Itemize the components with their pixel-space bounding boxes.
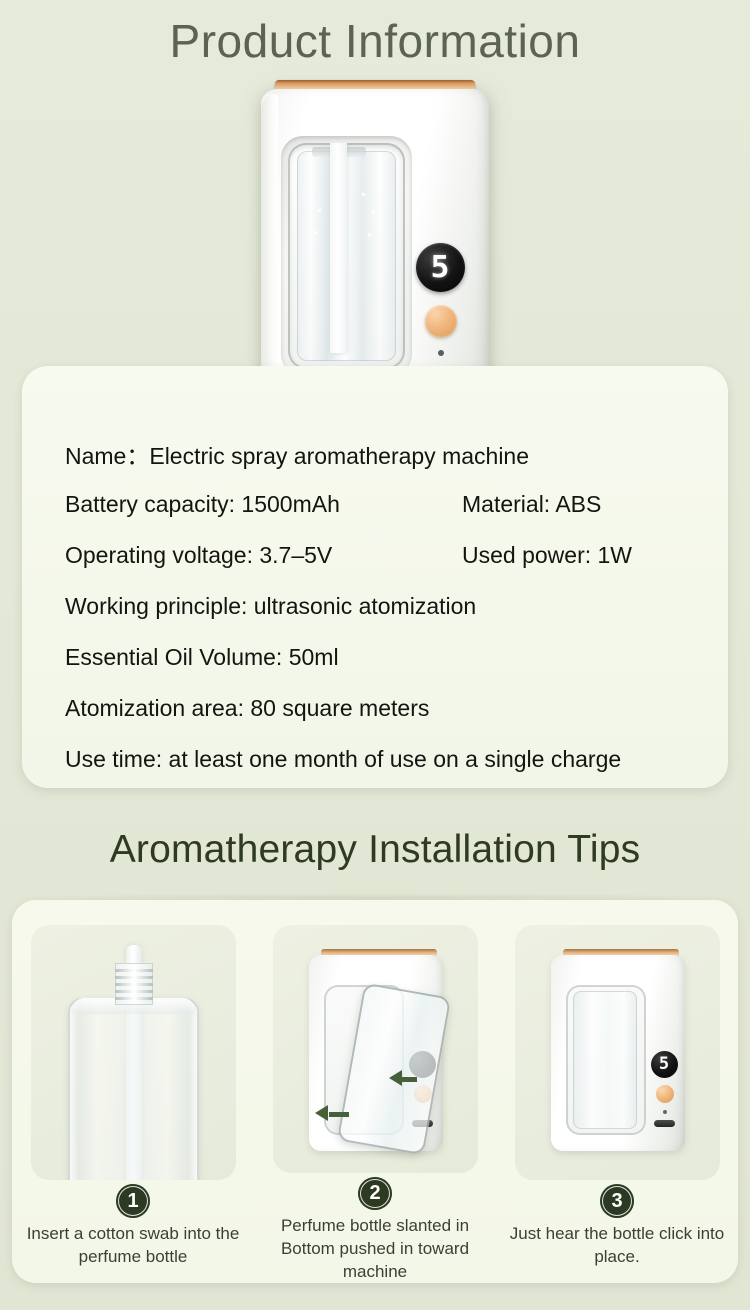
installation-steps-panel: 1 Insert a cotton swab into the perfume … [12, 900, 738, 1283]
spec-name: Name：Electric spray aromatherapy machine [65, 437, 529, 471]
sparkle-icon [368, 233, 371, 236]
spec-row: Working principle: ultrasonic atomizatio… [65, 581, 705, 632]
sparkle-icon [362, 193, 365, 196]
mini-device-led [663, 1110, 667, 1114]
mini-device-power-button [656, 1085, 674, 1103]
spec-row: Atomization area: 80 square meters [65, 683, 705, 734]
bottle-neck-tube [330, 143, 347, 353]
display-value: 5 [431, 253, 450, 283]
step-caption: Just hear the bottle click into place. [510, 1222, 725, 1268]
sparkle-icon [314, 231, 317, 234]
step-caption: Insert a cotton swab into the perfume bo… [26, 1222, 241, 1268]
installation-step-3: 5 3 Just hear the bottle click into plac… [496, 900, 738, 1283]
push-arrow-tail [329, 1112, 349, 1117]
bottle-thread [115, 976, 153, 979]
specifications-panel: Name：Electric spray aromatherapy machine… [22, 366, 728, 788]
spec-battery-capacity: Battery capacity: 1500mAh [65, 491, 340, 518]
spec-atomization-area: Atomization area: 80 square meters [65, 695, 429, 722]
step-caption: Perfume bottle slanted in Bottom pushed … [268, 1214, 483, 1283]
spec-row: Battery capacity: 1500mAh Material: ABS [65, 479, 705, 530]
installation-step-1: 1 Insert a cotton swab into the perfume … [12, 900, 254, 1283]
device-bottle-window [288, 143, 405, 369]
perfume-bottle [68, 998, 199, 1180]
installation-step-2: 2 Perfume bottle slanted in Bottom pushe… [254, 900, 496, 1283]
spec-row: Use time: at least one month of use on a… [65, 734, 705, 785]
sparkle-icon [372, 211, 375, 214]
mini-display-value: 5 [659, 1056, 669, 1073]
specifications-list: Name：Electric spray aromatherapy machine… [65, 428, 705, 785]
bottle-thread [115, 969, 153, 972]
mini-device-display: 5 [651, 1051, 678, 1078]
sparkle-icon [310, 195, 313, 198]
step-number-badge: 3 [600, 1184, 634, 1218]
bottle-thread [115, 983, 153, 986]
push-arrow-tail [401, 1077, 417, 1082]
mini-device-usb-port [654, 1120, 675, 1127]
product-information-page: Product Information 5 Name：Elec [0, 0, 750, 1310]
push-arrow-icon [389, 1070, 402, 1086]
bottle-thread [115, 990, 153, 993]
step-1-image [31, 925, 236, 1180]
spec-use-time: Use time: at least one month of use on a… [65, 746, 621, 773]
bottle-thread [115, 997, 153, 1000]
spec-working-principle: Working principle: ultrasonic atomizatio… [65, 593, 476, 620]
device-digital-display: 5 [416, 243, 465, 292]
spec-operating-voltage: Operating voltage: 3.7–5V [65, 542, 332, 569]
installation-section-title: Aromatherapy Installation Tips [0, 828, 750, 872]
device-led-indicator [438, 350, 444, 356]
spec-material: Material: ABS [462, 491, 601, 518]
device-power-button[interactable] [425, 305, 457, 337]
step-number-badge: 1 [116, 1184, 150, 1218]
push-arrow-icon [315, 1105, 328, 1121]
step-number-badge: 2 [358, 1177, 392, 1210]
spec-row: Operating voltage: 3.7–5V Used power: 1W [65, 530, 705, 581]
page-title: Product Information [0, 14, 750, 68]
spec-row: Name：Electric spray aromatherapy machine [65, 428, 705, 479]
spec-essential-oil-volume: Essential Oil Volume: 50ml [65, 644, 339, 671]
step-3-image: 5 [515, 925, 720, 1180]
mini-device [305, 949, 445, 1154]
sparkle-icon [318, 209, 321, 212]
product-hero-image: 5 [255, 80, 495, 400]
spec-used-power: Used power: 1W [462, 542, 632, 569]
mini-device: 5 [547, 949, 687, 1154]
step-2-image [273, 925, 478, 1173]
mini-device-window [566, 985, 646, 1135]
installation-steps-list: 1 Insert a cotton swab into the perfume … [12, 900, 738, 1283]
installed-bottle [573, 991, 637, 1129]
device-left-edge [261, 94, 278, 394]
spec-row: Essential Oil Volume: 50ml [65, 632, 705, 683]
